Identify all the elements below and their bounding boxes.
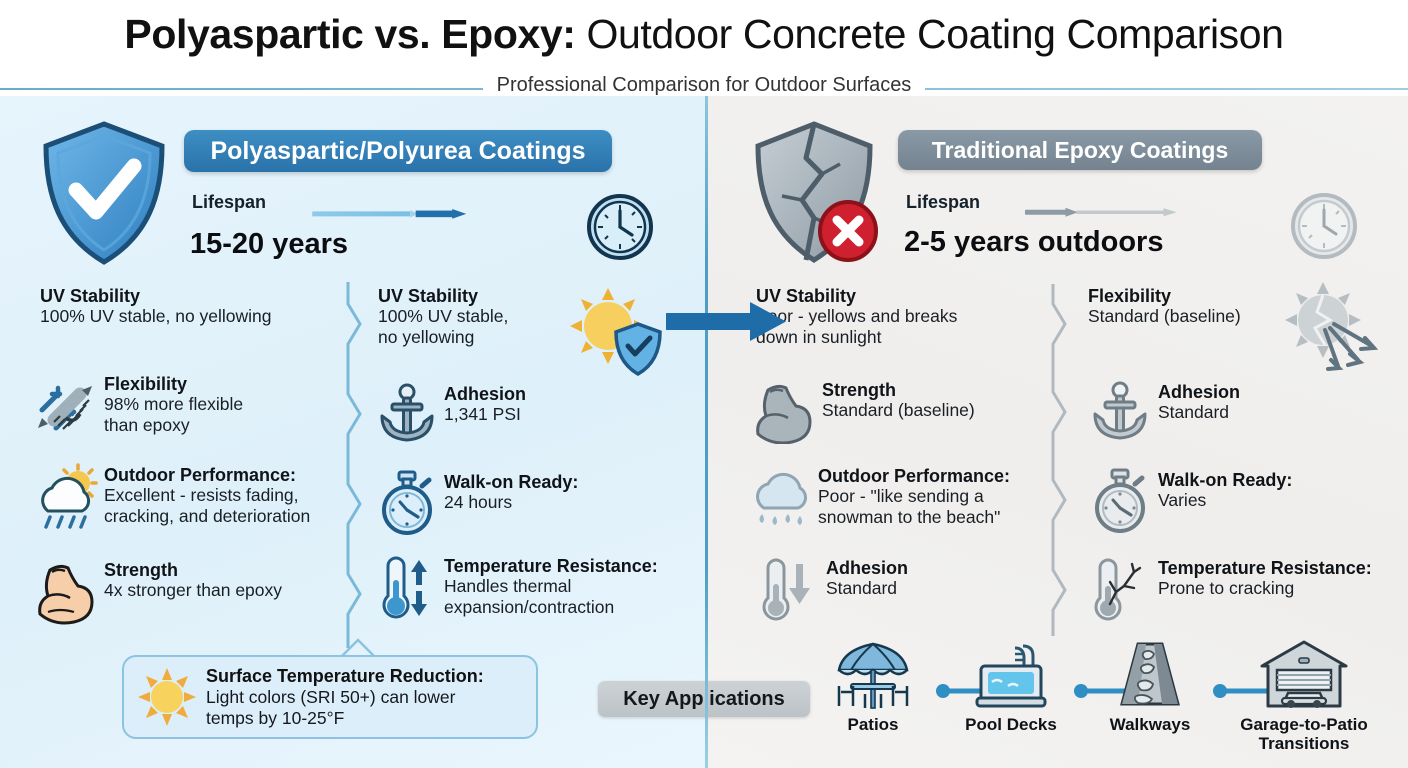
item-heading: Outdoor Performance: xyxy=(104,465,310,485)
rain-cloud-icon xyxy=(748,464,818,532)
item-heading: Adhesion xyxy=(826,558,908,578)
clock-faded-icon xyxy=(1286,190,1362,262)
stopwatch-gray-icon xyxy=(1088,468,1152,534)
page-subtitle-text: Professional Comparison for Outdoor Surf… xyxy=(483,74,926,96)
application-label: Garage-to-Patio Transitions xyxy=(1224,716,1384,753)
list-item: Strength Standard (baseline) xyxy=(752,378,1052,440)
list-item: UV Stability 100% UV stable, no yellowin… xyxy=(378,286,568,347)
page-subtitle: Professional Comparison for Outdoor Surf… xyxy=(0,74,1408,97)
sun-cloud-rain-icon xyxy=(34,463,106,533)
item-heading: Outdoor Performance: xyxy=(818,466,1010,486)
list-item: UV Stability 100% UV stable, no yellowin… xyxy=(40,286,340,327)
list-item: Strength 4x stronger than epoxy xyxy=(34,558,350,620)
page-title-normal: Outdoor Concrete Coating Comparison xyxy=(576,11,1284,57)
list-item: Outdoor Performance: Poor - "like sendin… xyxy=(748,464,1058,527)
list-item: Flexibility 98% more flexible than epoxy xyxy=(34,372,344,435)
item-detail: 100% UV stable, no yellowing xyxy=(378,306,508,347)
item-heading: Walk-on Ready: xyxy=(444,472,578,492)
badge-polyaspartic-title: Polyaspartic/Polyurea Coatings xyxy=(184,130,612,172)
application-label: Pool Decks xyxy=(946,716,1076,735)
list-item: Flexibility Standard (baseline) xyxy=(1088,286,1278,327)
item-heading: Walk-on Ready: xyxy=(1158,470,1292,490)
list-item: Temperature Resistance: Handles thermal … xyxy=(374,554,694,617)
garage-car-icon xyxy=(1258,640,1350,714)
shield-cracked-x-icon xyxy=(748,118,888,268)
sun-shield-icon xyxy=(560,282,672,378)
list-item: Adhesion Standard xyxy=(756,556,1056,618)
right-lifespan-value: 2-5 years outdoors xyxy=(904,226,1163,259)
list-item: Adhesion 1,341 PSI xyxy=(374,382,674,444)
page-title-bold: Polyaspartic vs. Epoxy: xyxy=(124,11,575,57)
clock-icon xyxy=(582,192,658,262)
walkway-icon xyxy=(1108,640,1192,714)
key-applications-badge: Key Applications xyxy=(598,681,810,717)
pool-icon xyxy=(969,640,1053,714)
list-item: Outdoor Performance: Excellent - resists… xyxy=(34,463,350,526)
anchor-gray-icon xyxy=(1088,380,1152,446)
application-patios: Patios xyxy=(808,640,938,735)
badge-epoxy-title: Traditional Epoxy Coatings xyxy=(898,130,1262,170)
callout-heading: Surface Temperature Reduction: xyxy=(206,666,484,687)
item-detail: Standard xyxy=(826,578,908,599)
thermometer-down-icon xyxy=(756,556,818,624)
item-heading: UV Stability xyxy=(40,286,272,306)
arrow-right-icon xyxy=(666,300,788,344)
item-heading: Temperature Resistance: xyxy=(444,556,658,576)
item-detail: Prone to cracking xyxy=(1158,578,1372,599)
stopwatch-icon xyxy=(374,470,440,536)
thermometer-arrows-icon xyxy=(374,554,440,624)
muscle-arm-icon xyxy=(34,558,104,628)
application-pool-decks: Pool Decks xyxy=(946,640,1076,735)
application-walkways: Walkways xyxy=(1085,640,1215,735)
item-detail: Standard xyxy=(1158,402,1240,423)
application-label: Patios xyxy=(808,716,938,735)
item-heading: Adhesion xyxy=(444,384,526,404)
item-heading: Strength xyxy=(822,380,975,400)
item-heading: UV Stability xyxy=(378,286,508,306)
shield-check-icon xyxy=(36,118,172,268)
item-detail: 4x stronger than epoxy xyxy=(104,580,282,601)
item-detail: 98% more flexible than epoxy xyxy=(104,394,243,435)
list-item: Adhesion Standard xyxy=(1088,380,1378,442)
item-detail: Poor - "like sending a snowman to the be… xyxy=(818,486,1010,527)
item-detail: 24 hours xyxy=(444,492,578,513)
list-item: Walk-on Ready: Varies xyxy=(1088,468,1378,530)
panel-divider xyxy=(705,90,708,768)
flex-spring-icon xyxy=(34,372,104,442)
item-detail: Standard (baseline) xyxy=(1088,306,1241,327)
item-heading: Temperature Resistance: xyxy=(1158,558,1372,578)
item-detail: Handles thermal expansion/contraction xyxy=(444,576,658,617)
item-heading: Flexibility xyxy=(1088,286,1241,306)
list-item: UV Stability Poor - yellows and breaks d… xyxy=(756,286,1036,347)
list-item: Walk-on Ready: 24 hours xyxy=(374,470,674,532)
item-heading: Flexibility xyxy=(104,374,243,394)
patio-umbrella-table-icon xyxy=(831,640,915,714)
header: Polyaspartic vs. Epoxy: Outdoor Concrete… xyxy=(0,0,1408,96)
sun-icon xyxy=(136,666,198,728)
left-lifespan-bar xyxy=(190,209,590,223)
item-detail: Standard (baseline) xyxy=(822,400,975,421)
callout-detail: Light colors (SRI 50+) can lower temps b… xyxy=(206,687,484,728)
item-detail: Varies xyxy=(1158,490,1292,511)
muscle-arm-gray-icon xyxy=(752,378,822,444)
item-heading: Strength xyxy=(104,560,282,580)
surface-temp-callout: Surface Temperature Reduction: Light col… xyxy=(122,655,538,739)
application-garage: Garage-to-Patio Transitions xyxy=(1224,640,1384,753)
application-label: Walkways xyxy=(1085,716,1215,735)
item-detail: 100% UV stable, no yellowing xyxy=(40,306,272,327)
sun-cracked-icon xyxy=(1268,278,1394,378)
page-title: Polyaspartic vs. Epoxy: Outdoor Concrete… xyxy=(0,12,1408,57)
item-heading: Adhesion xyxy=(1158,382,1240,402)
thermometer-crack-icon xyxy=(1088,556,1150,624)
item-detail: 1,341 PSI xyxy=(444,404,526,425)
anchor-icon xyxy=(374,382,440,448)
left-lifespan-value: 15-20 years xyxy=(190,228,348,261)
list-item: Temperature Resistance: Prone to crackin… xyxy=(1088,556,1388,618)
right-lifespan-bar xyxy=(904,207,1300,221)
item-detail: Excellent - resists fading, cracking, an… xyxy=(104,485,310,526)
